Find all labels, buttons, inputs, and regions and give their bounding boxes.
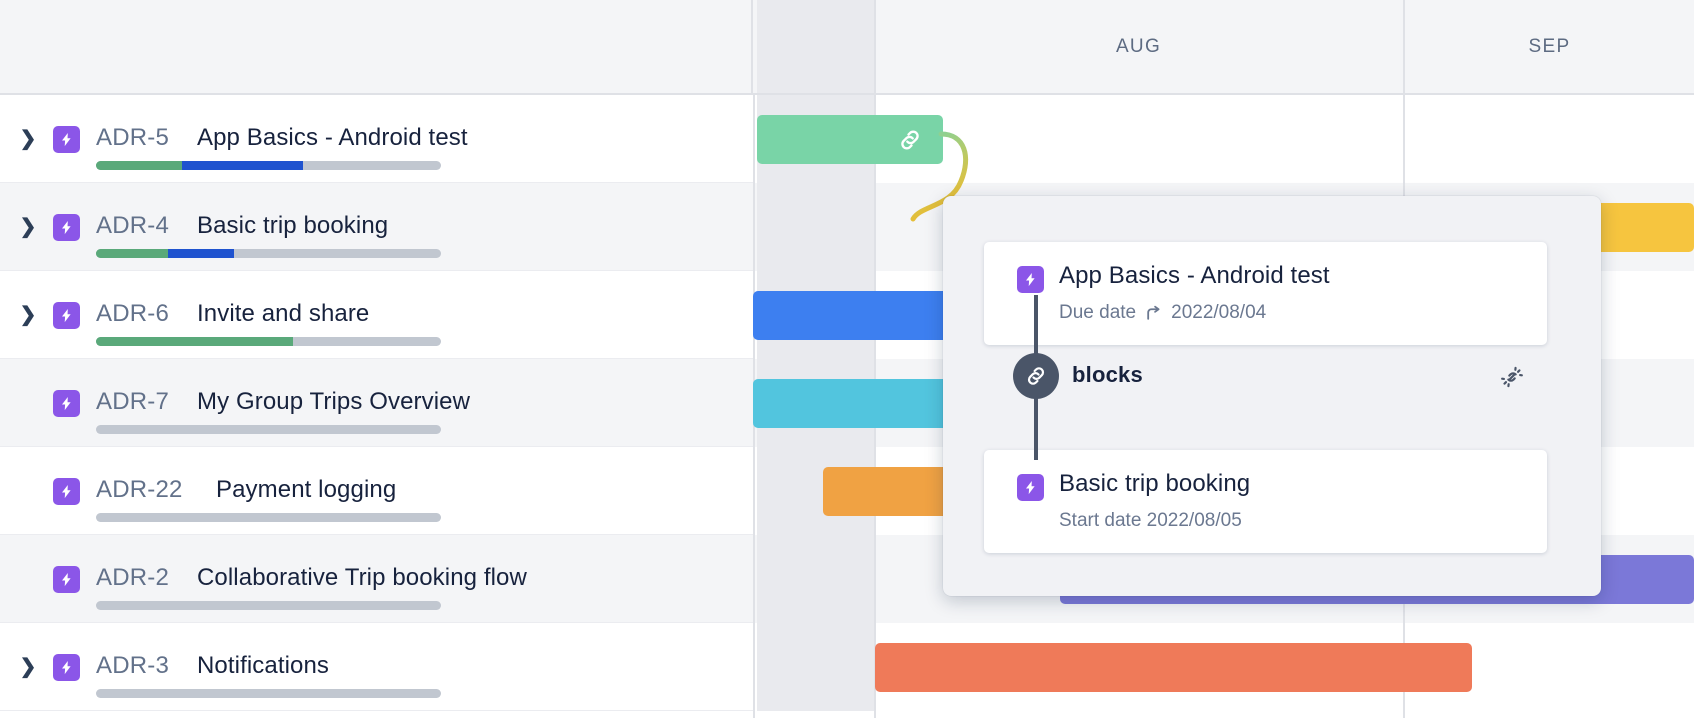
link-icon[interactable] [897,127,923,153]
issue-key[interactable]: ADR-3 [96,652,169,680]
month-header-sep: SEP [1405,0,1694,93]
timeline-view: AUGSEP ❯ADR-5App Basics - Android test❯A… [0,0,1694,718]
header-column-divider [874,0,876,93]
progress-bar [96,249,441,258]
popup-source-card[interactable]: App Basics - Android test Due date 2022/… [984,242,1547,345]
header-highlight-column [757,0,874,93]
issue-key[interactable]: ADR-22 [96,476,183,504]
epic-icon [53,390,80,417]
month-label: AUG [1116,36,1161,58]
epic-icon [53,478,80,505]
epic-icon [53,126,80,153]
issue-summary[interactable]: Invite and share [197,300,369,328]
row-divider [0,710,753,711]
timeline-bar[interactable] [875,643,1472,692]
table-row[interactable]: ❯ADR-5App Basics - Android test [0,95,753,183]
epic-icon [1017,266,1044,293]
chevron-right-icon[interactable]: ❯ [17,213,39,239]
timeline-header: AUGSEP [0,0,1694,95]
arrow-turn-right-icon [1145,305,1162,322]
timeline-highlight-column [757,623,874,711]
chevron-right-icon[interactable]: ❯ [17,125,39,151]
epic-icon [53,566,80,593]
issue-summary[interactable]: App Basics - Android test [197,124,468,152]
header-column-divider [1403,0,1405,93]
timeline-bar[interactable] [757,115,943,164]
progress-bar [96,513,441,522]
timeline-bar[interactable] [1585,203,1694,252]
issue-summary[interactable]: My Group Trips Overview [197,388,470,416]
relation-label: blocks [1072,362,1143,388]
issue-summary[interactable]: Notifications [197,652,329,680]
issue-key[interactable]: ADR-5 [96,124,169,152]
progress-bar [96,425,441,434]
progress-segment [168,249,234,258]
popup-target-title: Basic trip booking [1059,470,1250,498]
popup-source-title: App Basics - Android test [1059,262,1330,290]
epic-icon [1017,474,1044,501]
header-left-panel [0,0,753,93]
link-icon [1013,353,1059,399]
table-row[interactable]: ❯ADR-3Notifications [0,623,753,711]
unlink-icon[interactable] [1495,360,1529,394]
progress-segment [96,337,293,346]
chevron-right-icon[interactable]: ❯ [17,301,39,327]
progress-segment [182,161,303,170]
month-header-aug: AUG [874,0,1403,93]
table-row[interactable]: ❯ADR-6Invite and share [0,271,753,359]
issue-key[interactable]: ADR-4 [96,212,169,240]
popup-target-card[interactable]: Basic trip booking Start date 2022/08/05 [984,450,1547,553]
issue-summary[interactable]: Basic trip booking [197,212,388,240]
table-row[interactable]: ❯ADR-4Basic trip booking [0,183,753,271]
popup-source-meta-value: 2022/08/04 [1171,302,1266,324]
issue-summary[interactable]: Collaborative Trip booking flow [197,564,527,592]
epic-icon [53,302,80,329]
popup-source-meta: Due date 2022/08/04 [1059,302,1266,324]
table-row[interactable]: ADR-2Collaborative Trip booking flow [0,535,753,623]
progress-bar [96,337,441,346]
issue-summary[interactable]: Payment logging [216,476,396,504]
table-row[interactable]: ADR-22Payment logging [0,447,753,535]
epic-icon [53,214,80,241]
month-label: SEP [1529,36,1571,58]
progress-segment [96,161,182,170]
issue-key[interactable]: ADR-6 [96,300,169,328]
issue-key[interactable]: ADR-7 [96,388,169,416]
progress-bar [96,161,441,170]
progress-segment [96,249,168,258]
table-row[interactable]: ADR-7My Group Trips Overview [0,359,753,447]
progress-bar [96,601,441,610]
timeline-highlight-column [757,535,874,623]
timeline-highlight-column [757,183,874,271]
chevron-right-icon[interactable]: ❯ [17,653,39,679]
popup-target-meta: Start date 2022/08/05 [1059,510,1242,532]
popup-source-meta-label: Due date [1059,302,1136,324]
epic-icon [53,654,80,681]
progress-bar [96,689,441,698]
issue-key[interactable]: ADR-2 [96,564,169,592]
